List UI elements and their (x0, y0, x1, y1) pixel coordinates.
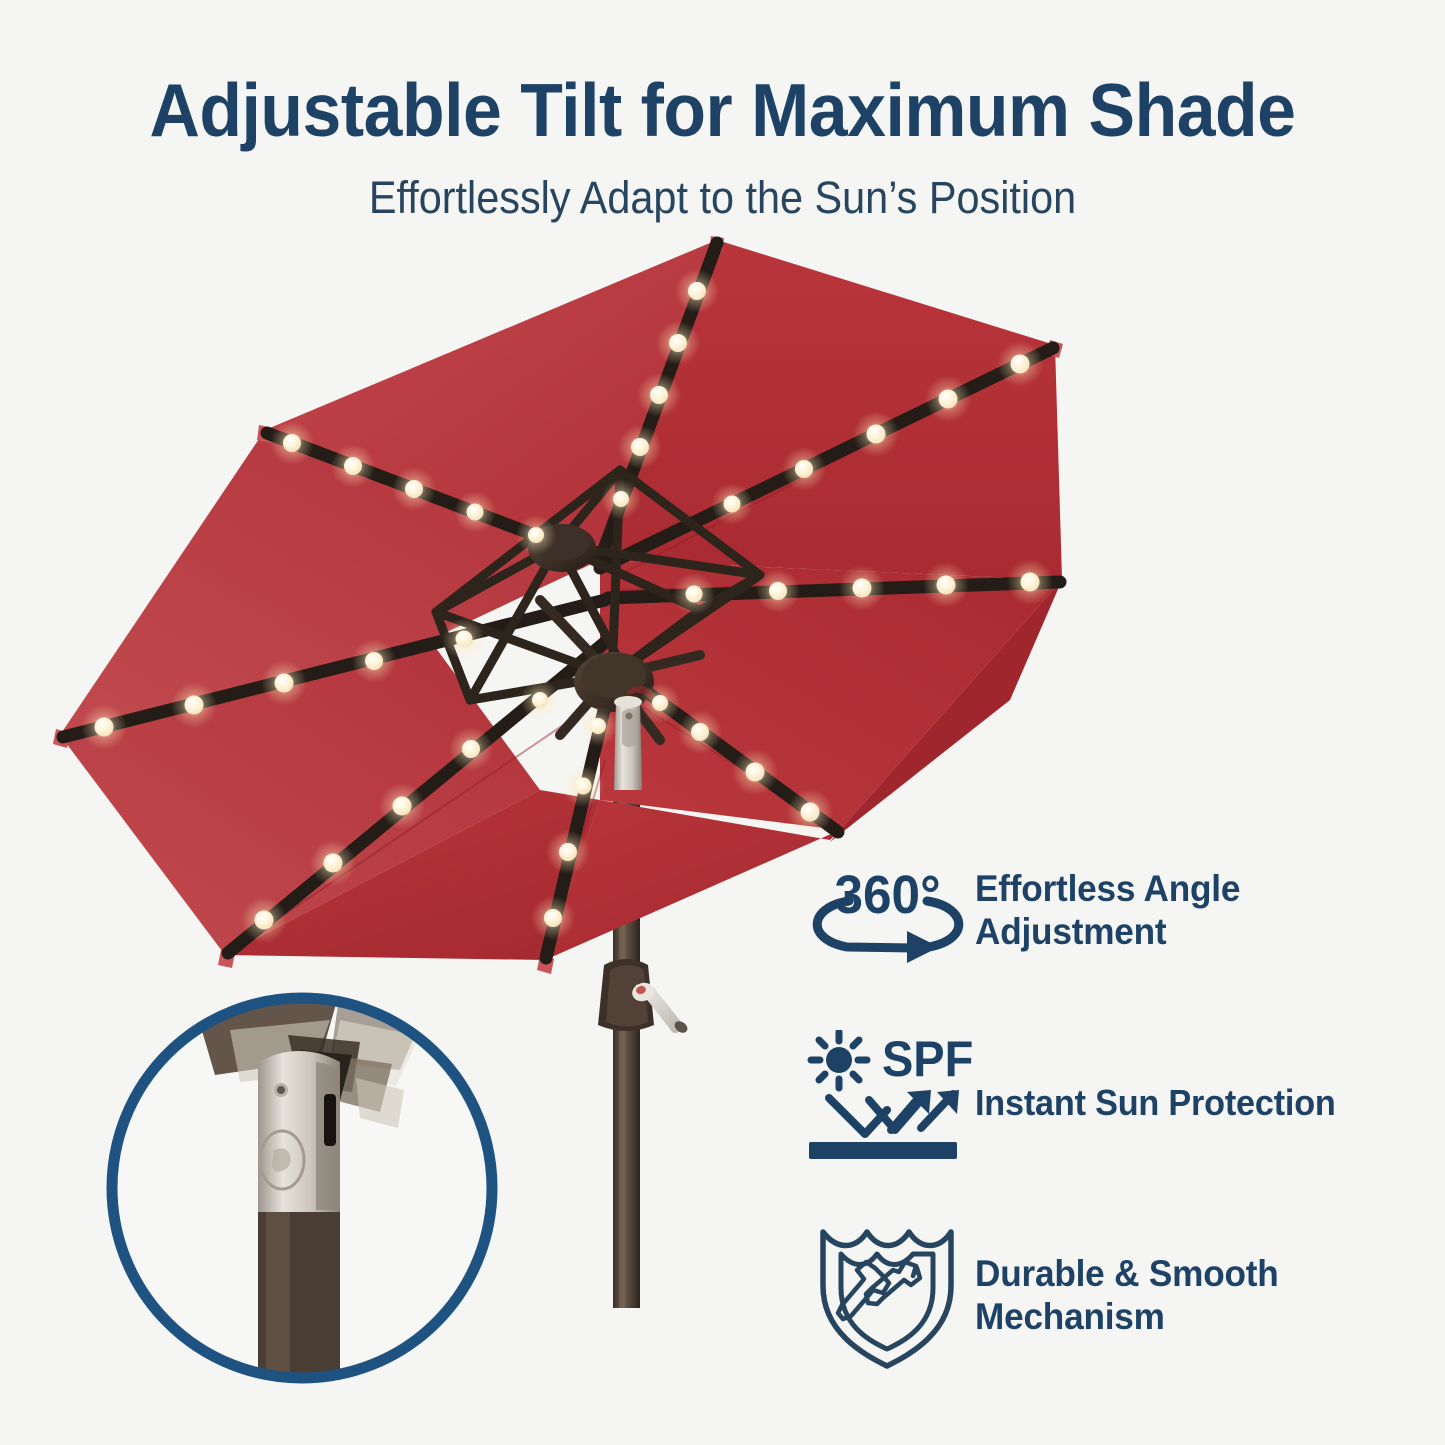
svg-text:SPF: SPF (881, 1032, 972, 1088)
spf-sun-protection-icon: SPF (800, 1030, 975, 1175)
infographic-canvas: Adjustable Tilt for Maximum Shade Effort… (0, 0, 1445, 1445)
feature-item-angle-adjustment: 360° Effortless Angle Adjustment (800, 855, 1254, 965)
shield-with-wrenches-icon (800, 1220, 975, 1370)
feature-label: Durable & Smooth Mechanism (975, 1252, 1279, 1338)
feature-item-durable-mechanism: Durable & Smooth Mechanism (800, 1220, 1295, 1370)
svg-text:360°: 360° (834, 865, 940, 925)
tilt-mechanism-inset (112, 990, 492, 1410)
feature-label: Effortless Angle Adjustment (975, 867, 1240, 953)
feature-label: Instant Sun Protection (975, 1081, 1336, 1124)
360-degree-rotation-icon: 360° (800, 855, 975, 965)
crank-handle (598, 959, 690, 1035)
feature-item-sun-protection: SPF Instant Sun Protection (800, 1030, 1355, 1175)
